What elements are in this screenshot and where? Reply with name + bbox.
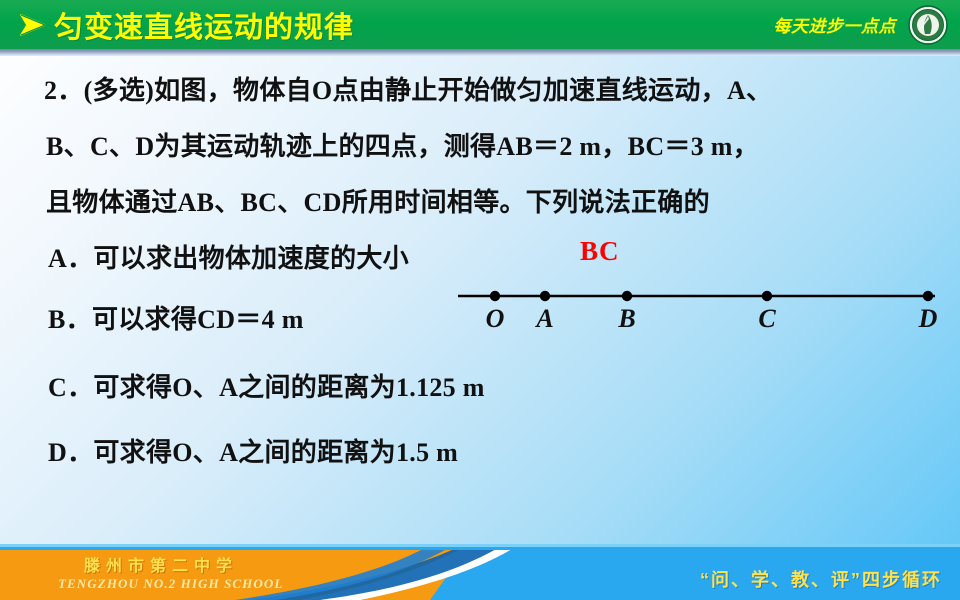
triangle-arrow-icon — [18, 12, 48, 38]
header-motto: 每天进步一点点 — [774, 12, 897, 37]
diagram-point-o — [490, 291, 500, 301]
question-line-1: 2．(多选)如图，物体自O点由静止开始做匀加速直线运动，A、 — [44, 70, 772, 107]
diagram-highlight-label: BC — [580, 236, 620, 267]
option-b: B．可以求得CD＝4 m — [48, 299, 304, 336]
diagram-label-c: C — [758, 304, 775, 334]
question-line-2: B、C、D为其运动轨迹上的四点，测得AB＝2 m，BC＝3 m， — [46, 126, 759, 163]
diagram-label-d: D — [919, 304, 938, 334]
footer-school-name-en: TENGZHOU NO.2 HIGH SCHOOL — [58, 576, 283, 592]
motion-diagram: BC OABCD — [440, 236, 952, 346]
slide-root: 匀变速直线运动的规律 每天进步一点点 2．(多选)如图，物体自O点由静止开始做匀… — [0, 0, 960, 600]
slide-content: 2．(多选)如图，物体自O点由静止开始做匀加速直线运动，A、 B、C、D为其运动… — [0, 56, 960, 544]
header-underline — [0, 49, 960, 56]
diagram-axis — [440, 284, 952, 308]
option-c: C．可求得O、A之间的距离为1.125 m — [48, 367, 485, 404]
question-line-3: 且物体通过AB、BC、CD所用时间相等。下列说法正确的 — [46, 182, 710, 219]
option-a: A．可以求出物体加速度的大小 — [48, 238, 409, 275]
diagram-point-b — [622, 291, 632, 301]
diagram-label-a: A — [536, 304, 553, 334]
diagram-label-b: B — [618, 304, 635, 334]
diagram-point-d — [923, 291, 933, 301]
slide-footer: 滕州市第二中学 TENGZHOU NO.2 HIGH SCHOOL “问、学、教… — [0, 544, 960, 600]
option-d: D．可求得O、A之间的距离为1.5 m — [48, 432, 458, 469]
footer-slogan: “问、学、教、评”四步循环 — [700, 566, 942, 592]
diagram-point-a — [540, 291, 550, 301]
diagram-label-o: O — [486, 304, 505, 334]
school-crest-icon — [908, 5, 948, 45]
slide-header: 匀变速直线运动的规律 每天进步一点点 — [0, 0, 960, 49]
page-title: 匀变速直线运动的规律 — [54, 4, 354, 46]
footer-school-name-cn: 滕州市第二中学 — [84, 552, 238, 576]
diagram-point-c — [762, 291, 772, 301]
